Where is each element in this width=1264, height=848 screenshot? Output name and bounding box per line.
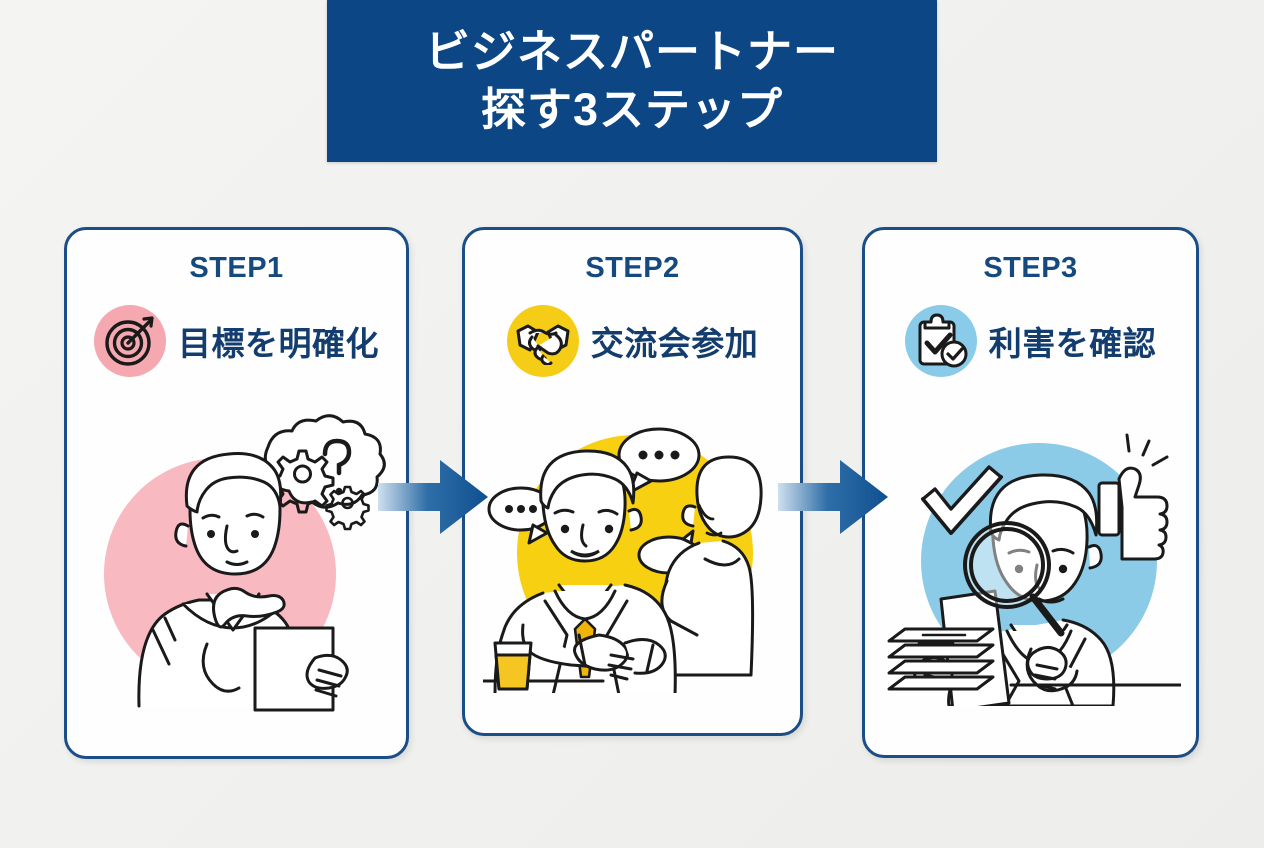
arrow-step2-to-step3: [778, 458, 888, 536]
step-card-2[interactable]: STEP2 交流会参加: [462, 227, 803, 736]
step-card-3[interactable]: STEP3 利害を確認: [862, 227, 1199, 758]
document-review-illustration: [865, 390, 1196, 737]
step-card-1[interactable]: STEP1 目標を明確化: [64, 227, 409, 759]
step-label-1: STEP1: [67, 252, 406, 285]
step-label-3: STEP3: [865, 252, 1196, 285]
infographic-canvas: ビジネスパートナー 探す3ステップ STEP1 目標を明確化: [0, 0, 1264, 848]
arrow-step1-to-step2: [378, 458, 488, 536]
card-heading-1: 目標を明確化: [178, 317, 379, 365]
thinking-businessman-illustration: [67, 390, 406, 738]
title-line-1: ビジネスパートナー: [425, 23, 839, 81]
title-line-2: 探す3ステップ: [481, 81, 783, 139]
card-heading-2: 交流会参加: [591, 317, 759, 365]
step-label-2: STEP2: [465, 252, 800, 285]
target-dartboard-icon: [94, 305, 166, 377]
card-heading-3: 利害を確認: [989, 317, 1157, 365]
handshake-networking-illustration: [465, 390, 800, 715]
card-head-2: 交流会参加: [465, 300, 800, 382]
card-head-1: 目標を明確化: [67, 300, 406, 382]
clipboard-check-icon: [905, 305, 977, 377]
title-banner: ビジネスパートナー 探す3ステップ: [327, 0, 937, 162]
handshake-icon: [507, 305, 579, 377]
card-head-3: 利害を確認: [865, 300, 1196, 382]
